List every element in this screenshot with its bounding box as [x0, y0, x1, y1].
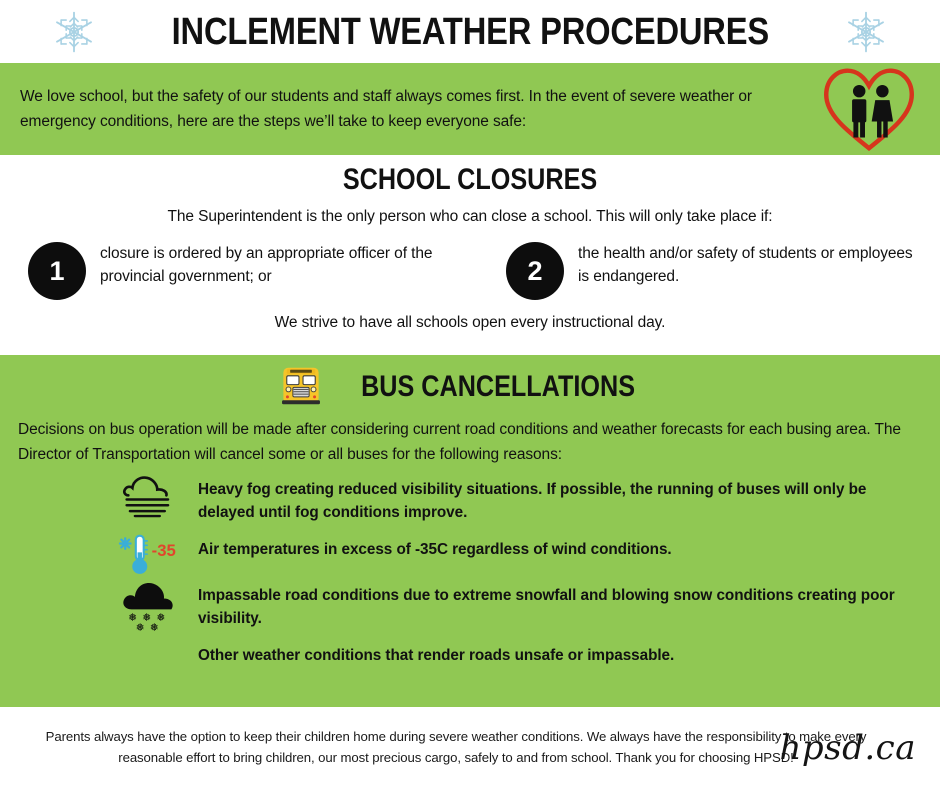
- bus-cancellations-heading: BUS CANCELLATIONS: [361, 370, 635, 403]
- closure-condition-text: closure is ordered by an appropriate off…: [100, 240, 440, 289]
- page-title: INCLEMENT WEATHER PROCEDURES: [171, 13, 768, 51]
- list-item: ❅ ❅ ❅ ❅ ❅ Impassable road conditions due…: [118, 579, 922, 635]
- fog-icon: [118, 473, 180, 529]
- snowflake-icon: [843, 9, 889, 55]
- bus-cancellations-header: BUS CANCELLATIONS: [18, 365, 922, 407]
- poster-header: INCLEMENT WEATHER PROCEDURES: [0, 0, 940, 63]
- list-item: Other weather conditions that render roa…: [118, 639, 922, 668]
- list-item: Heavy fog creating reduced visibility si…: [118, 473, 922, 529]
- closure-condition-text: the health and/or safety of students or …: [578, 240, 918, 289]
- reason-text: Other weather conditions that render roa…: [198, 639, 674, 668]
- intro-banner: We love school, but the safety of our st…: [0, 63, 940, 155]
- intro-text: We love school, but the safety of our st…: [20, 84, 800, 134]
- heart-with-people-icon: [820, 66, 918, 152]
- reason-text: Air temperatures in excess of -35C regar…: [198, 533, 672, 562]
- number-badge: 1: [28, 242, 86, 300]
- bus-cancellation-reasons: Heavy fog creating reduced visibility si…: [18, 473, 922, 668]
- hpsd-website-logo[interactable]: hpsd.ca: [780, 728, 917, 768]
- svg-text:❅: ❅: [136, 621, 145, 633]
- school-closures-lead: The Superintendent is the only person wh…: [0, 208, 940, 226]
- temperature-label: -35: [152, 541, 176, 560]
- bus-cancellations-lead: Decisions on bus operation will be made …: [18, 417, 922, 467]
- list-item: 1 closure is ordered by an appropriate o…: [28, 240, 440, 300]
- number-badge: 2: [506, 242, 564, 300]
- closure-conditions-list: 1 closure is ordered by an appropriate o…: [0, 240, 940, 300]
- svg-text:❅: ❅: [150, 621, 159, 633]
- school-closures-section: SCHOOL CLOSURES The Superintendent is th…: [0, 155, 940, 355]
- reason-text: Heavy fog creating reduced visibility si…: [198, 473, 922, 525]
- bus-cancellations-section: BUS CANCELLATIONS Decisions on bus opera…: [0, 355, 940, 707]
- school-bus-icon: [279, 365, 323, 407]
- school-closures-heading: SCHOOL CLOSURES: [75, 163, 865, 196]
- snow-cloud-icon: ❅ ❅ ❅ ❅ ❅: [118, 579, 180, 635]
- inclement-weather-poster: INCLEMENT WEATHER PROCEDURES: [0, 0, 940, 788]
- reason-text: Impassable road conditions due to extrem…: [198, 579, 922, 631]
- spacer: [118, 639, 180, 645]
- list-item: 2 the health and/or safety of students o…: [446, 240, 918, 300]
- list-item: -35 Air temperatures in excess of -35C r…: [118, 533, 922, 575]
- school-closures-closing-note: We strive to have all schools open every…: [0, 314, 940, 332]
- snowflake-icon: [51, 9, 97, 55]
- poster-footer: Parents always have the option to keep t…: [0, 707, 940, 788]
- thermometer-cold-icon: -35: [118, 533, 180, 575]
